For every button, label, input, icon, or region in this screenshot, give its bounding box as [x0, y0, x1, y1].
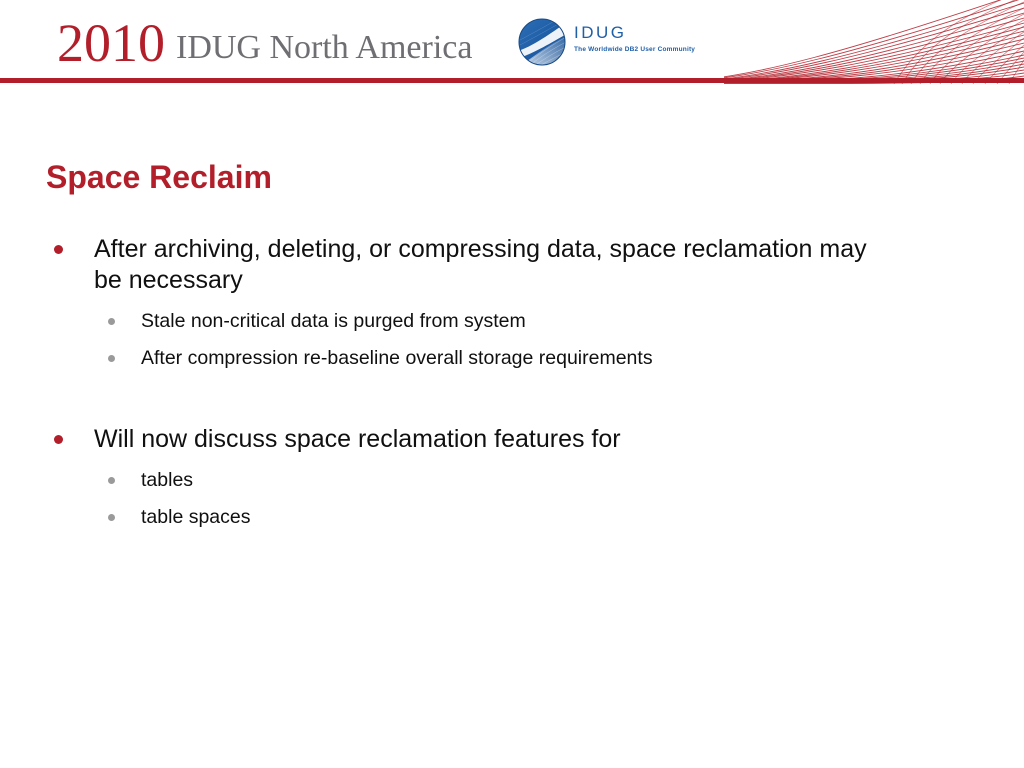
bullet-item: After archiving, deleting, or compressin… [46, 234, 966, 296]
idug-logo: IDUG The Worldwide DB2 User Community [518, 18, 688, 70]
sub-bullet-item: After compression re-baseline overall st… [46, 346, 966, 370]
sub-bullet-text: tables [141, 469, 193, 491]
sub-bullet-dot-icon [108, 514, 115, 521]
sub-bullet-text: table spaces [141, 506, 251, 528]
sub-bullet-item: tables [46, 468, 966, 492]
brand-year: 2010 [57, 14, 165, 72]
idug-wordmark: IDUG [574, 24, 627, 42]
page-title: Space Reclaim [46, 158, 272, 196]
bullet-dot-icon [54, 435, 63, 444]
sub-bullet-dot-icon [108, 318, 115, 325]
sub-bullet-text: After compression re-baseline overall st… [141, 347, 653, 369]
bullet-text: Will now discuss space reclamation featu… [94, 424, 894, 455]
bullet-item: Will now discuss space reclamation featu… [46, 424, 966, 455]
brand-event-name: IDUG North America [176, 28, 472, 68]
bullet-dot-icon [54, 245, 63, 254]
sub-bullet-item: table spaces [46, 505, 966, 529]
sub-bullet-text: Stale non-critical data is purged from s… [141, 310, 526, 332]
idug-globe-icon [518, 18, 566, 66]
slide-header: 2010 IDUG North America [0, 0, 1024, 84]
idug-tagline: The Worldwide DB2 User Community [574, 45, 695, 54]
sub-bullet-dot-icon [108, 355, 115, 362]
sub-bullet-item: Stale non-critical data is purged from s… [46, 309, 966, 333]
sub-bullet-dot-icon [108, 477, 115, 484]
slide-body: Space Reclaim After archiving, deleting,… [0, 84, 1024, 768]
bullet-text: After archiving, deleting, or compressin… [94, 234, 894, 296]
bullet-list: After archiving, deleting, or compressin… [46, 234, 966, 529]
decorative-swirl-graphic [724, 0, 1024, 84]
bullet-group-spacer [46, 370, 966, 424]
header-divider-rule [0, 78, 1024, 83]
